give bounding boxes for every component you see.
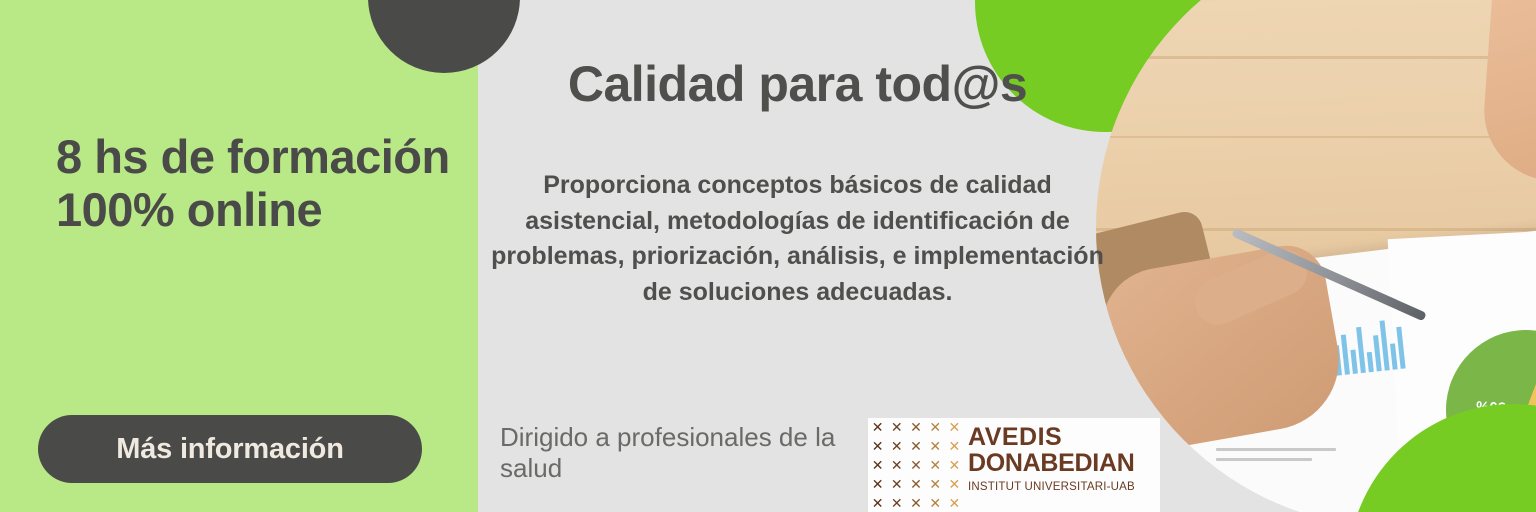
logo-x-mark-icon: ✕ (929, 439, 941, 453)
logo-x-mark-icon: ✕ (910, 496, 922, 510)
course-duration-headline: 8 hs de formación 100% online (56, 131, 456, 236)
logo-x-mark-icon: ✕ (872, 496, 884, 510)
wood-grain-line (1096, 56, 1536, 59)
logo-x-mark-icon: ✕ (891, 496, 903, 510)
logo-x-mark-icon: ✕ (949, 496, 961, 510)
target-audience-text: Dirigido a profesionales de la salud (500, 422, 870, 483)
logo-x-mark-icon: ✕ (910, 420, 922, 434)
page-title: Calidad para tod@s (490, 55, 1105, 113)
logo-x-mark-icon: ✕ (872, 420, 884, 434)
logo-x-mark-icon: ✕ (929, 477, 941, 491)
logo-x-mark-icon: ✕ (949, 458, 961, 472)
logo-x-mark-icon: ✕ (872, 439, 884, 453)
logo-x-mark-icon: ✕ (910, 477, 922, 491)
logo-x-mark-icon: ✕ (891, 477, 903, 491)
logo-x-mark-icon: ✕ (872, 458, 884, 472)
logo-x-mark-icon: ✕ (872, 477, 884, 491)
more-info-button[interactable]: Más información (38, 415, 422, 483)
logo-x-mark-icon: ✕ (949, 477, 961, 491)
logo-subtitle: INSTITUT UNIVERSITARI-UAB (968, 481, 1158, 493)
logo-x-mark-icon: ✕ (910, 458, 922, 472)
logo-wordmark: AVEDIS DONABEDIAN INSTITUT UNIVERSITARI-… (968, 424, 1158, 493)
text-line-placeholder (1216, 448, 1336, 451)
logo-x-mark-icon: ✕ (891, 420, 903, 434)
logo-name-line-1: AVEDIS (968, 424, 1158, 450)
logo-x-mark-icon: ✕ (929, 458, 941, 472)
logo-x-mark-icon: ✕ (949, 420, 961, 434)
logo-x-mark-icon: ✕ (929, 420, 941, 434)
promotional-banner: 8 hs de formación 100% online Más inform… (0, 0, 1536, 512)
logo-x-pattern: ✕✕✕✕✕✕✕✕✕✕✕✕✕✕✕✕✕✕✕✕✕✕✕✕✕ (868, 418, 964, 512)
logo-x-mark-icon: ✕ (949, 439, 961, 453)
logo-x-mark-icon: ✕ (891, 458, 903, 472)
logo-x-mark-icon: ✕ (929, 496, 941, 510)
logo-x-mark-icon: ✕ (891, 439, 903, 453)
course-description: Proporciona conceptos básicos de calidad… (490, 168, 1105, 310)
logo-x-mark-icon: ✕ (910, 439, 922, 453)
left-green-panel: 8 hs de formación 100% online Más inform… (0, 0, 478, 512)
wood-grain-line (1096, 136, 1536, 138)
logo-name-line-2: DONABEDIAN (968, 450, 1158, 477)
text-line-placeholder (1216, 458, 1312, 461)
avedis-donabedian-logo: ✕✕✕✕✕✕✕✕✕✕✕✕✕✕✕✕✕✕✕✕✕✕✕✕✕ AVEDIS DONABED… (868, 418, 1160, 512)
